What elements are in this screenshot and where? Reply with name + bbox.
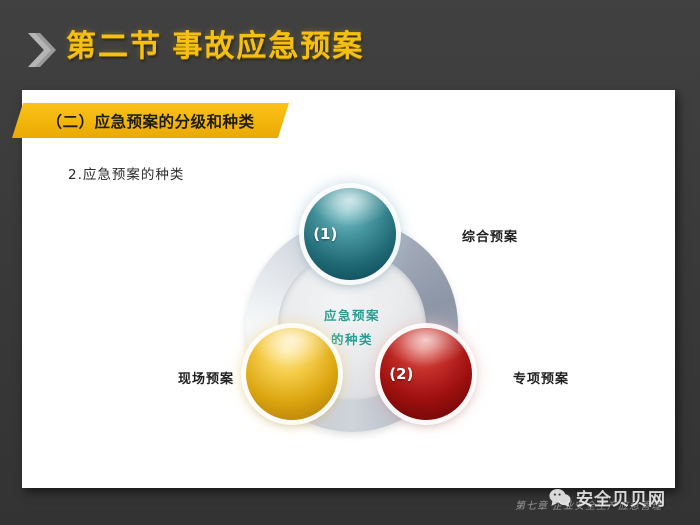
diagram-center-line1: 应急预案 [324, 305, 380, 324]
body-heading: 2.应急预案的种类 [68, 163, 184, 183]
diagram-label-special: 专项预案 [513, 368, 569, 387]
sphere-highlight-icon [246, 328, 338, 420]
diagram-node-special[interactable]: (2) [380, 328, 472, 420]
page-title: 第二节 事故应急预案 [66, 22, 364, 72]
diagram-node-number-1: (1) [313, 225, 337, 243]
watermark: 安全贝贝网 [549, 485, 666, 510]
slide-background: 第二节 事故应急预案 （二）应急预案的分级和种类 2.应急预案的种类 应急预案 … [0, 0, 700, 525]
diagram-label-onsite: 现场预案 [178, 368, 234, 387]
diagram-node-comprehensive[interactable]: (1) [304, 188, 396, 280]
wechat-icon [549, 488, 571, 507]
diagram-center-line2: 的种类 [331, 329, 373, 348]
watermark-text: 安全贝贝网 [576, 485, 666, 510]
section-banner-label: （二）应急预案的分级和种类 [12, 103, 289, 138]
slide-header: 第二节 事故应急预案 [0, 22, 700, 78]
diagram-node-onsite[interactable] [246, 328, 338, 420]
chevron-right-icon [26, 31, 60, 69]
cycle-diagram: 应急预案 的种类 (1) (2) [232, 188, 472, 436]
diagram-node-number-2: (2) [389, 365, 413, 383]
diagram-label-comprehensive: 综合预案 [462, 226, 518, 245]
